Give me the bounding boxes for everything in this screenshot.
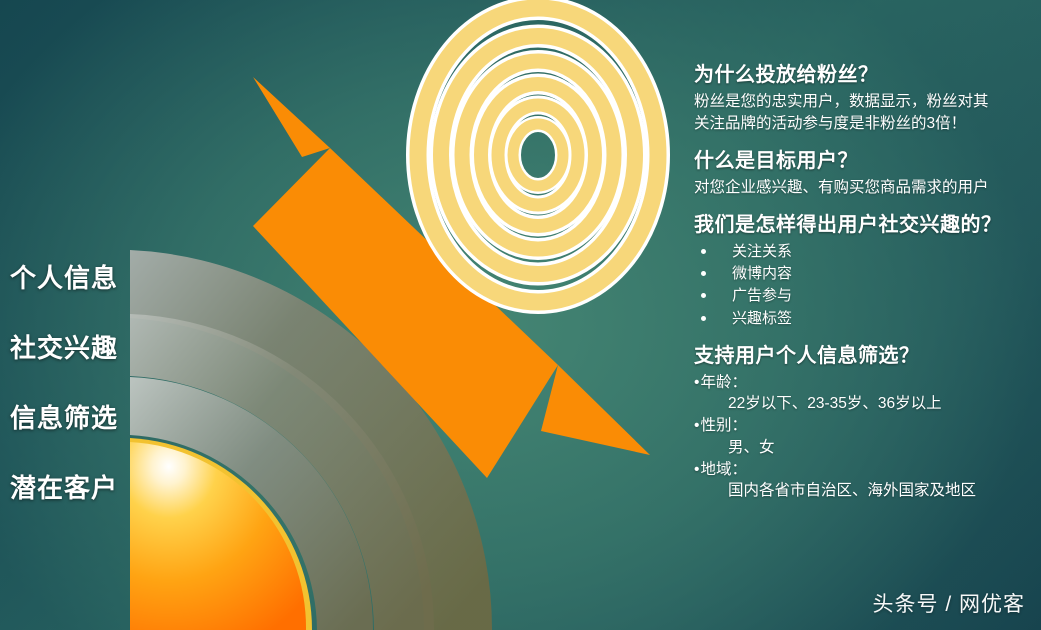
filter-values-age: 22岁以下、23-35岁、36岁以上	[694, 393, 1036, 415]
list-item: 兴趣标签	[694, 308, 1036, 330]
filter-category-region: 地域：	[694, 459, 1036, 481]
block-body-target-user: 对您企业感兴趣、有购买您商品需求的用户	[694, 177, 1036, 199]
left-label-personal-info: 个人信息	[0, 243, 132, 313]
left-label-social-interest: 社交兴趣	[0, 313, 132, 383]
block-body-why-fans: 粉丝是您的忠实用户，数据显示，粉丝对其 关注品牌的活动参与度是非粉丝的3倍！	[694, 91, 1036, 135]
block-heading-filters: 支持用户个人信息筛选？	[694, 343, 1036, 370]
filter-list: 年龄： 22岁以下、23-35岁、36岁以上 性别： 男、女 地域： 国内各省市…	[694, 372, 1036, 502]
content-block-filters: 支持用户个人信息筛选？ 年龄： 22岁以下、23-35岁、36岁以上 性别： 男…	[694, 343, 1036, 502]
list-item: 年龄： 22岁以下、23-35岁、36岁以上	[694, 372, 1036, 415]
filter-values-gender: 男、女	[694, 437, 1036, 459]
watermark: 头条号 / 网优客	[872, 588, 1025, 618]
list-item: 关注关系	[694, 241, 1036, 263]
list-item: 地域： 国内各省市自治区、海外国家及地区	[694, 459, 1036, 502]
body-line: 粉丝是您的忠实用户，数据显示，粉丝对其	[694, 91, 1036, 113]
block-heading-target-user: 什么是目标用户？	[694, 148, 1036, 175]
list-item: 广告参与	[694, 285, 1036, 307]
list-item: 微博内容	[694, 263, 1036, 285]
social-interest-bullet-list: 关注关系 微博内容 广告参与 兴趣标签	[694, 241, 1036, 330]
list-item: 性别： 男、女	[694, 415, 1036, 458]
body-line: 关注品牌的活动参与度是非粉丝的3倍！	[694, 113, 1036, 135]
body-line: 对您企业感兴趣、有购买您商品需求的用户	[694, 177, 1036, 199]
content-block-target-user: 什么是目标用户？ 对您企业感兴趣、有购买您商品需求的用户	[694, 148, 1036, 199]
content-block-why-fans: 为什么投放给粉丝？ 粉丝是您的忠实用户，数据显示，粉丝对其 关注品牌的活动参与度…	[694, 62, 1036, 135]
content-column: 为什么投放给粉丝？ 粉丝是您的忠实用户，数据显示，粉丝对其 关注品牌的活动参与度…	[694, 62, 1036, 515]
block-heading-social-interest: 我们是怎样得出用户社交兴趣的？	[694, 212, 1036, 239]
filter-category-age: 年龄：	[694, 372, 1036, 394]
slide-canvas: 个人信息 社交兴趣 信息筛选 潜在客户 为什么投放给粉丝？ 粉丝是您的忠实用户，…	[0, 0, 1041, 630]
filter-category-gender: 性别：	[694, 415, 1036, 437]
left-label-potential-customer: 潜在客户	[0, 453, 132, 523]
left-label-stack: 个人信息 社交兴趣 信息筛选 潜在客户	[0, 243, 132, 523]
filter-values-region: 国内各省市自治区、海外国家及地区	[694, 480, 1036, 502]
concentric-target-rings	[418, 8, 658, 302]
block-heading-why-fans: 为什么投放给粉丝？	[694, 62, 1036, 89]
content-block-social-interest: 我们是怎样得出用户社交兴趣的？ 关注关系 微博内容 广告参与 兴趣标签	[694, 212, 1036, 330]
left-label-info-filter: 信息筛选	[0, 383, 132, 453]
